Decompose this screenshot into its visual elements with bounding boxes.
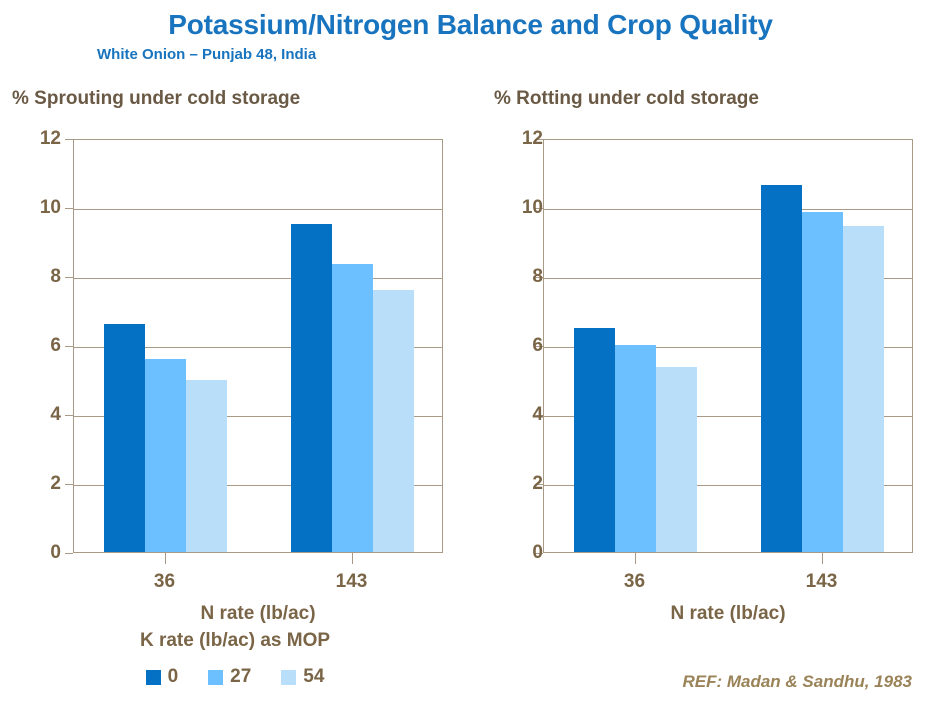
x-axis-tick-label: 143 — [336, 571, 368, 593]
plot-area-sprouting — [73, 139, 443, 553]
title-block: Potassium/Nitrogen Balance and Crop Qual… — [0, 8, 941, 42]
gridline — [544, 209, 912, 210]
bar-sprouting-n143-k54 — [373, 290, 414, 552]
page-subtitle: White Onion – Punjab 48, India — [97, 46, 316, 63]
legend-swatch-icon — [208, 670, 223, 685]
x-axis-tick-label: 36 — [154, 571, 175, 593]
y-axis-tick-label: 2 — [499, 473, 543, 495]
x-axis-tick-mark — [352, 553, 353, 564]
chart-title-sprouting: % Sprouting under cold storage — [12, 88, 300, 110]
y-axis-tick-mark — [65, 484, 73, 485]
legend-entry-27[interactable]: 27 — [208, 666, 251, 688]
plot-area-rotting — [543, 139, 913, 553]
chart-panel-sprouting: % Sprouting under cold storage 121086420… — [0, 88, 470, 608]
x-axis-tick-label: 36 — [624, 571, 645, 593]
x-axis-tick-mark — [165, 553, 166, 564]
bar-sprouting-n36-k54 — [186, 380, 227, 553]
y-axis-tick-label: 6 — [17, 335, 61, 357]
y-axis-tick-label: 10 — [499, 197, 543, 219]
legend-entry-0[interactable]: 0 — [146, 666, 179, 688]
gridline — [74, 278, 442, 279]
x-axis-tick-mark — [635, 553, 636, 564]
y-axis-tick-mark — [65, 277, 73, 278]
legend-label: 0 — [168, 666, 179, 688]
y-axis-tick-mark — [65, 553, 73, 554]
chart-panel-rotting: % Rotting under cold storage 12108642036… — [470, 88, 940, 608]
y-axis-tick-mark — [65, 208, 73, 209]
bar-rotting-n36-k27 — [615, 345, 656, 552]
bar-rotting-n143-k54 — [843, 226, 884, 552]
bar-sprouting-n143-k0 — [291, 224, 332, 552]
chart-title-rotting: % Rotting under cold storage — [494, 88, 759, 110]
x-axis-tick-mark — [822, 553, 823, 564]
legend-label: 54 — [303, 666, 324, 688]
bar-sprouting-n36-k0 — [104, 324, 145, 552]
y-axis-tick-label: 10 — [17, 197, 61, 219]
x-axis-title: N rate (lb/ac) — [73, 603, 443, 625]
legend-swatch-icon — [146, 670, 161, 685]
bar-rotting-n36-k0 — [574, 328, 615, 552]
bar-rotting-n143-k0 — [761, 185, 802, 552]
y-axis-tick-label: 4 — [499, 404, 543, 426]
bar-rotting-n143-k27 — [802, 212, 843, 552]
page-title: Potassium/Nitrogen Balance and Crop Qual… — [0, 8, 941, 42]
legend-items: 02754 — [0, 666, 470, 688]
y-axis-tick-label: 8 — [17, 266, 61, 288]
reference-citation: REF: Madan & Sandhu, 1983 — [682, 672, 912, 692]
y-axis-tick-label: 12 — [17, 128, 61, 150]
gridline — [74, 209, 442, 210]
y-axis-tick-mark — [65, 346, 73, 347]
legend-entry-54[interactable]: 54 — [281, 666, 324, 688]
x-axis-title: N rate (lb/ac) — [543, 603, 913, 625]
y-axis-tick-mark — [65, 415, 73, 416]
x-axis-tick-label: 143 — [806, 571, 838, 593]
legend-title: K rate (lb/ac) as MOP — [0, 630, 470, 652]
y-axis-tick-label: 2 — [17, 473, 61, 495]
bar-sprouting-n143-k27 — [332, 264, 373, 552]
y-axis-tick-label: 12 — [499, 128, 543, 150]
y-axis-tick-label: 8 — [499, 266, 543, 288]
y-axis-tick-label: 0 — [499, 542, 543, 564]
bar-rotting-n36-k54 — [656, 367, 697, 552]
legend-swatch-icon — [281, 670, 296, 685]
legend: K rate (lb/ac) as MOP 02754 — [0, 630, 470, 688]
y-axis-tick-label: 0 — [17, 542, 61, 564]
y-axis-tick-label: 6 — [499, 335, 543, 357]
y-axis-tick-label: 4 — [17, 404, 61, 426]
bar-sprouting-n36-k27 — [145, 359, 186, 552]
y-axis-tick-mark — [65, 139, 73, 140]
legend-label: 27 — [230, 666, 251, 688]
